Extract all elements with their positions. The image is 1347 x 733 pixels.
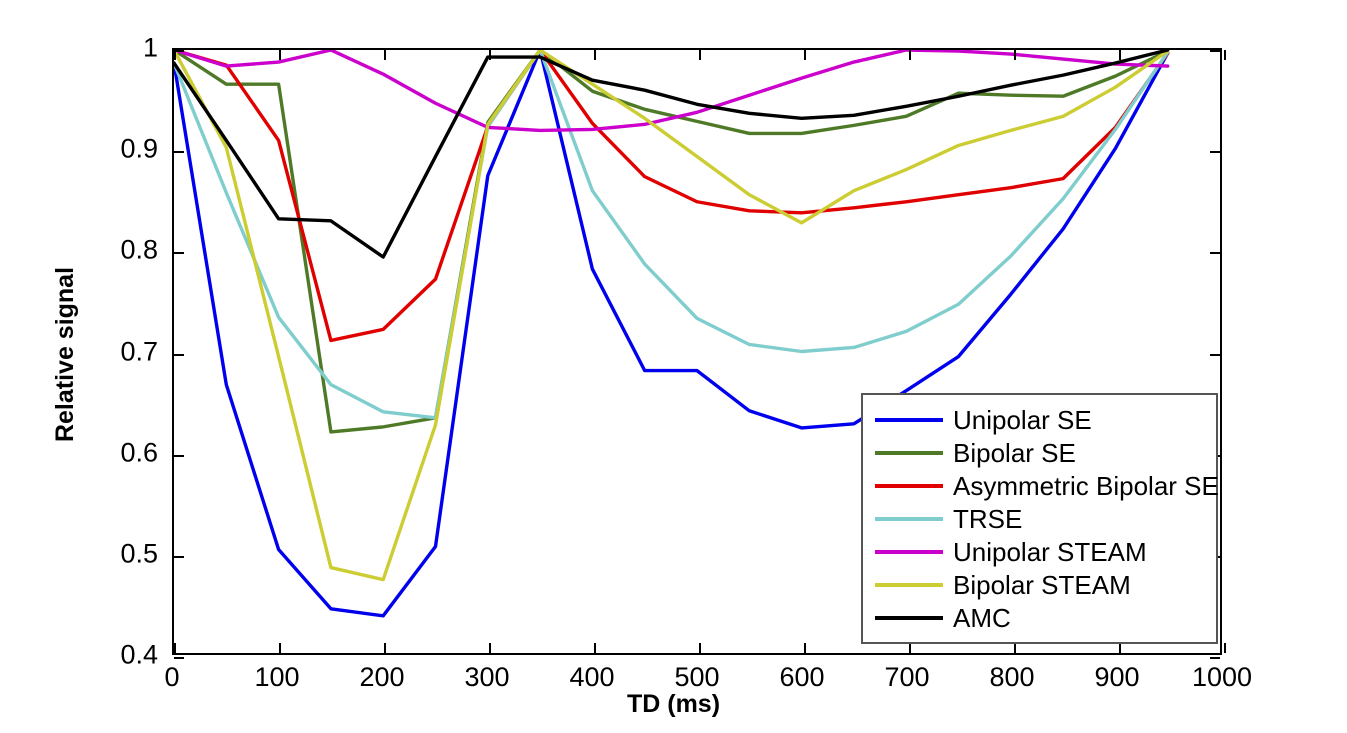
x-tick-1000	[1224, 643, 1226, 653]
x-axis-title: TD (ms)	[0, 690, 1347, 719]
x-tick-label-600: 600	[779, 662, 824, 693]
x-tick-label-100: 100	[254, 662, 299, 693]
y-tick-label-0.6: 0.6	[96, 437, 158, 468]
x-tick-label-0: 0	[164, 662, 179, 693]
x-tick-200	[384, 643, 386, 653]
y-tick-0.7	[174, 354, 184, 356]
x-tick-200	[384, 50, 386, 60]
legend-item-unipolar-steam[interactable]: Unipolar STEAM	[863, 535, 1216, 568]
legend-item-trse[interactable]: TRSE	[863, 502, 1216, 535]
series-line-unipolar-steam	[174, 50, 1168, 130]
x-tick-label-200: 200	[359, 662, 404, 693]
legend-label: TRSE	[953, 506, 1022, 532]
legend-item-unipolar-se[interactable]: Unipolar SE	[863, 403, 1216, 436]
y-tick-0.6	[174, 455, 184, 457]
legend-item-bipolar-se[interactable]: Bipolar SE	[863, 436, 1216, 469]
x-tick-700	[909, 50, 911, 60]
x-tick-500	[699, 50, 701, 60]
y-tick-label-0.7: 0.7	[96, 336, 158, 367]
x-tick-300	[489, 50, 491, 60]
x-tick-100	[279, 643, 281, 653]
x-tick-700	[909, 643, 911, 653]
x-tick-label-900: 900	[1094, 662, 1139, 693]
legend-label: AMC	[953, 605, 1011, 631]
x-tick-0	[174, 643, 176, 653]
legend-item-asymmetric-bipolar-se[interactable]: Asymmetric Bipolar SE	[863, 469, 1216, 502]
series-line-amc	[174, 50, 1168, 257]
legend-swatch-icon	[875, 517, 943, 521]
legend-swatch-icon	[875, 451, 943, 455]
x-tick-600	[804, 643, 806, 653]
x-tick-label-700: 700	[884, 662, 929, 693]
x-tick-600	[804, 50, 806, 60]
y-tick-1	[1210, 50, 1220, 52]
x-tick-900	[1119, 643, 1121, 653]
y-tick-label-0.5: 0.5	[96, 538, 158, 569]
legend-label: Unipolar STEAM	[953, 539, 1147, 565]
y-tick-0.9	[1210, 151, 1220, 153]
series-line-trse	[174, 50, 1168, 418]
y-tick-0.8	[174, 252, 184, 254]
x-tick-label-300: 300	[464, 662, 509, 693]
x-tick-400	[594, 50, 596, 60]
x-tick-label-800: 800	[989, 662, 1034, 693]
series-line-asymmetric-bipolar-se	[174, 50, 1168, 340]
x-tick-500	[699, 643, 701, 653]
y-tick-0.4	[174, 657, 184, 659]
legend-swatch-icon	[875, 484, 943, 488]
x-tick-label-400: 400	[569, 662, 614, 693]
y-tick-0.8	[1210, 252, 1220, 254]
legend-swatch-icon	[875, 418, 943, 422]
legend-label: Asymmetric Bipolar SE	[953, 473, 1219, 499]
figure-container: TD (ms) Relative signal Unipolar SEBipol…	[0, 0, 1347, 733]
x-tick-label-500: 500	[674, 662, 719, 693]
y-tick-label-0.8: 0.8	[96, 235, 158, 266]
x-tick-400	[594, 643, 596, 653]
y-tick-0.5	[174, 556, 184, 558]
y-tick-0.4	[1210, 657, 1220, 659]
x-tick-800	[1014, 643, 1016, 653]
x-tick-900	[1119, 50, 1121, 60]
legend-item-bipolar-steam[interactable]: Bipolar STEAM	[863, 568, 1216, 601]
legend-swatch-icon	[875, 583, 943, 587]
legend-label: Bipolar STEAM	[953, 572, 1131, 598]
y-tick-0.7	[1210, 354, 1220, 356]
y-tick-label-0.4: 0.4	[96, 640, 158, 671]
y-tick-1	[174, 50, 184, 52]
legend-label: Bipolar SE	[953, 440, 1076, 466]
legend-swatch-icon	[875, 550, 943, 554]
x-tick-800	[1014, 50, 1016, 60]
chart-legend: Unipolar SEBipolar SEAsymmetric Bipolar …	[861, 393, 1218, 644]
legend-item-amc[interactable]: AMC	[863, 601, 1216, 634]
y-tick-label-0.9: 0.9	[96, 134, 158, 165]
y-tick-0.9	[174, 151, 184, 153]
x-tick-label-1000: 1000	[1192, 662, 1252, 693]
y-axis-title: Relative signal	[51, 267, 80, 442]
x-tick-300	[489, 643, 491, 653]
legend-swatch-icon	[875, 616, 943, 620]
legend-label: Unipolar SE	[953, 407, 1092, 433]
y-tick-label-1: 1	[96, 33, 158, 64]
x-tick-100	[279, 50, 281, 60]
x-tick-1000	[1224, 50, 1226, 60]
